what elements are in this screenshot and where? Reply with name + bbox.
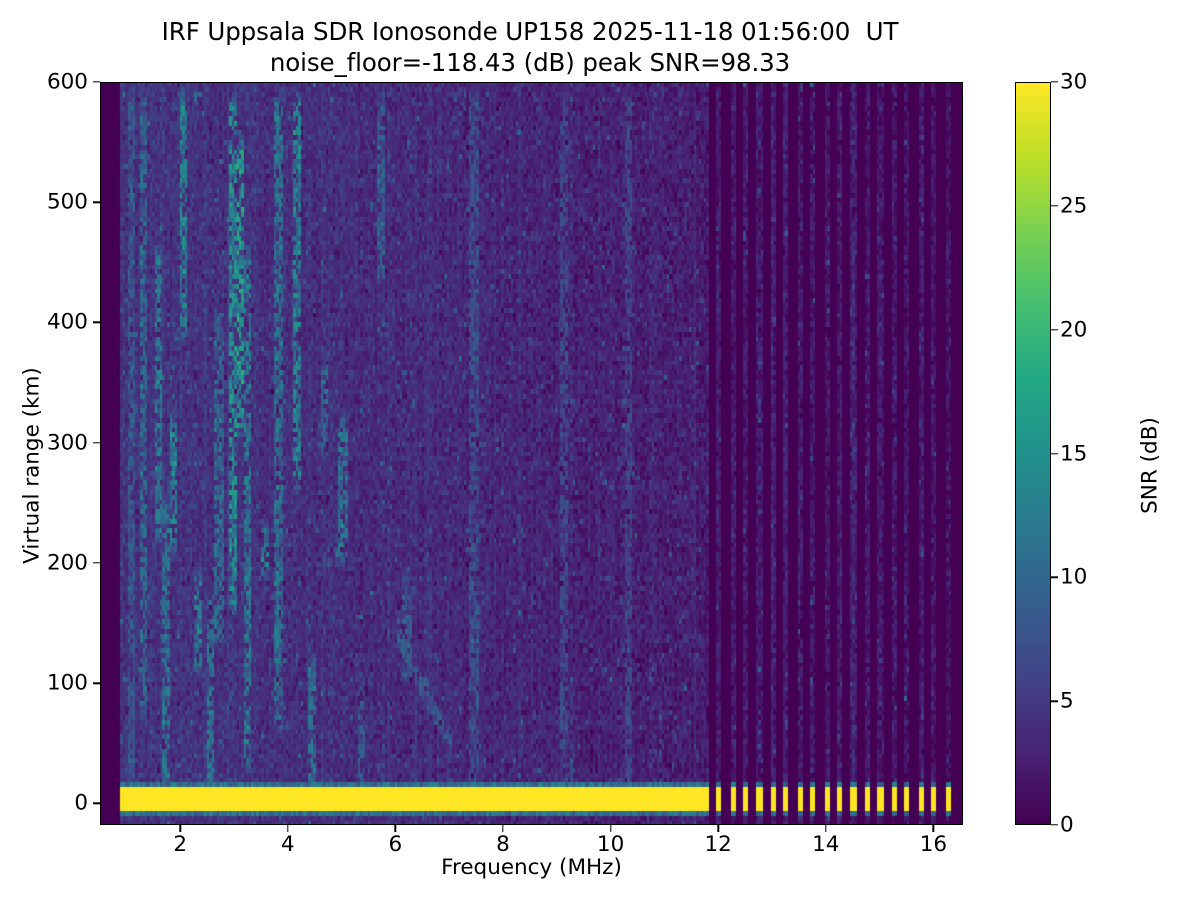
y-tick-mark xyxy=(93,322,100,323)
title-line-2: noise_floor=-118.43 (dB) peak SNR=98.33 xyxy=(0,47,1060,78)
colorbar-tick-label: 10 xyxy=(1060,565,1087,590)
x-tick-mark xyxy=(287,825,288,832)
colorbar-tick-mark xyxy=(1051,205,1058,206)
colorbar-tick-mark xyxy=(1051,824,1058,825)
x-tick-label: 2 xyxy=(173,832,187,857)
x-tick-mark xyxy=(502,825,503,832)
x-tick-mark xyxy=(610,825,611,832)
colorbar-gradient xyxy=(1016,83,1050,824)
colorbar-tick-mark xyxy=(1051,81,1058,82)
colorbar-tick-label: 30 xyxy=(1060,70,1087,95)
colorbar-tick-mark xyxy=(1051,329,1058,330)
y-tick-mark xyxy=(93,442,100,443)
x-tick-label: 10 xyxy=(597,832,624,857)
y-tick-mark xyxy=(93,81,100,82)
ionogram-heatmap[interactable] xyxy=(101,83,963,825)
y-tick-label: 0 xyxy=(8,791,88,816)
y-tick-label: 500 xyxy=(8,190,88,215)
x-tick-label: 16 xyxy=(920,832,947,857)
y-tick-mark xyxy=(93,562,100,563)
x-tick-mark xyxy=(179,825,180,832)
ionogram-plot-area[interactable] xyxy=(100,82,963,825)
colorbar-tick-label: 15 xyxy=(1060,441,1087,466)
ionogram-figure: IRF Uppsala SDR Ionosonde UP158 2025-11-… xyxy=(0,0,1200,900)
y-tick-mark xyxy=(93,803,100,804)
colorbar-label: SNR (dB) xyxy=(1138,316,1163,616)
x-tick-label: 8 xyxy=(496,832,510,857)
x-axis-label: Frequency (MHz) xyxy=(100,855,963,880)
colorbar-tick-label: 5 xyxy=(1060,689,1074,714)
y-tick-label: 100 xyxy=(8,671,88,696)
title-line-1: IRF Uppsala SDR Ionosonde UP158 2025-11-… xyxy=(0,16,1060,47)
x-tick-label: 6 xyxy=(389,832,403,857)
colorbar-tick-label: 20 xyxy=(1060,317,1087,342)
colorbar-tick-mark xyxy=(1051,700,1058,701)
x-tick-label: 14 xyxy=(812,832,839,857)
y-axis-label: Virtual range (km) xyxy=(20,266,45,666)
x-tick-mark xyxy=(825,825,826,832)
x-tick-label: 12 xyxy=(705,832,732,857)
colorbar-tick-mark xyxy=(1051,453,1058,454)
colorbar-tick-label: 0 xyxy=(1060,813,1074,838)
x-tick-mark xyxy=(395,825,396,832)
x-tick-mark xyxy=(933,825,934,832)
y-tick-mark xyxy=(93,682,100,683)
colorbar-tick-mark xyxy=(1051,577,1058,578)
colorbar-tick-label: 25 xyxy=(1060,193,1087,218)
x-tick-label: 4 xyxy=(281,832,295,857)
figure-title: IRF Uppsala SDR Ionosonde UP158 2025-11-… xyxy=(0,16,1060,79)
colorbar[interactable] xyxy=(1015,82,1051,825)
x-tick-mark xyxy=(717,825,718,832)
y-tick-mark xyxy=(93,202,100,203)
